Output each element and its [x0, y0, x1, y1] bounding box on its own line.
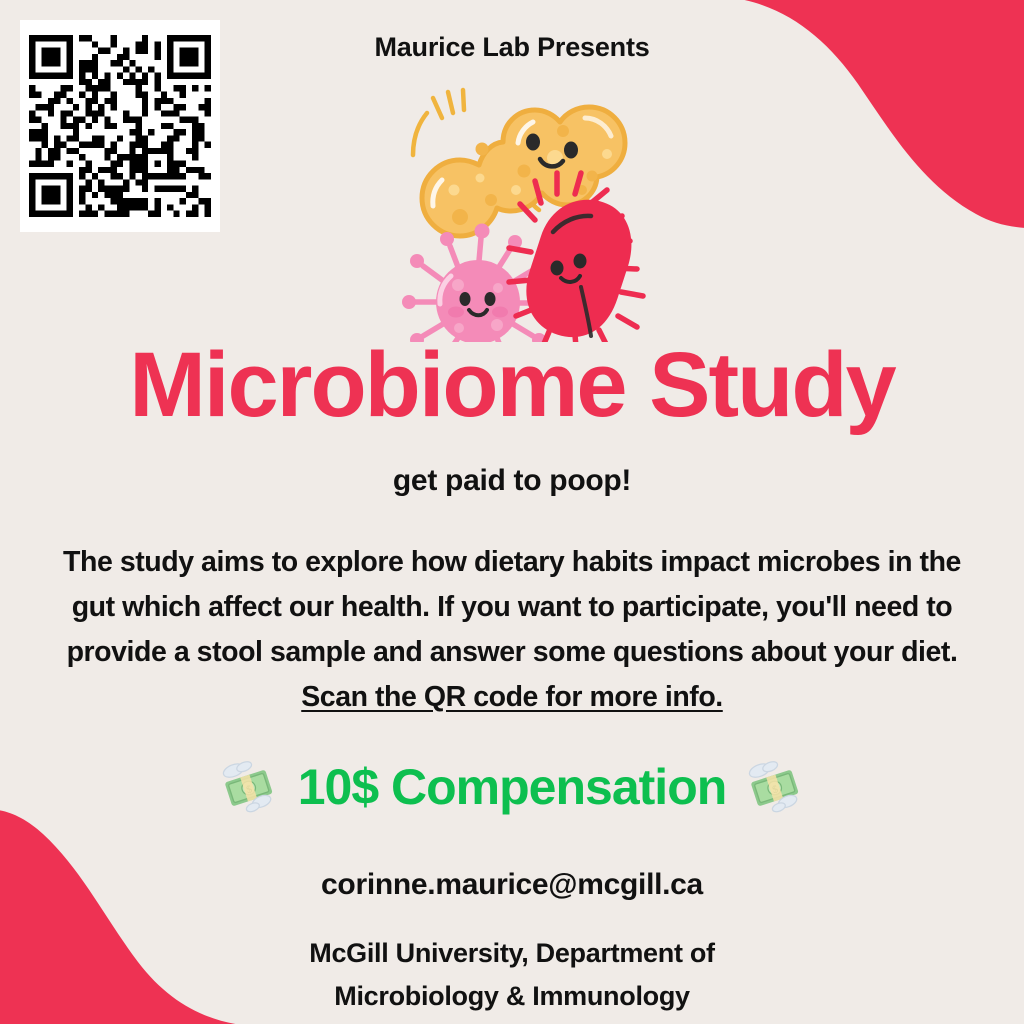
- page-subtitle: get paid to poop!: [0, 464, 1024, 498]
- page-title: Microbiome Study: [0, 337, 1024, 434]
- virus-body: [436, 260, 520, 342]
- description-line-3: provide a stool sample and answer some q…: [12, 630, 1012, 675]
- scan-qr-callout[interactable]: Scan the QR code for more info.: [12, 675, 1012, 720]
- virus-eye-right: [485, 292, 496, 306]
- poster-canvas: Maurice Lab Presents: [0, 0, 1024, 1024]
- description-line-2: gut which affect our health. If you want…: [12, 585, 1012, 630]
- bacteria-eye-right: [574, 254, 587, 269]
- money-with-wings-emoji-left: $: [218, 758, 280, 816]
- description-paragraph: The study aims to explore how dietary ha…: [12, 540, 1012, 720]
- affiliation-line-2: Microbiology & Immunology: [0, 975, 1024, 1018]
- contact-email[interactable]: corinne.maurice@mcgill.ca: [0, 868, 1024, 902]
- microbe-eye-right: [564, 142, 578, 159]
- affiliation-block: McGill University, Department of Microbi…: [0, 932, 1024, 1018]
- bacteria-eye-left: [551, 261, 564, 276]
- money-with-wings-emoji-right: $: [744, 758, 806, 816]
- compensation-row: $ 10$ Compensation $: [0, 758, 1024, 816]
- lab-presents-heading: Maurice Lab Presents: [0, 32, 1024, 63]
- virus-eye-left: [460, 292, 471, 306]
- compensation-amount: 10$ Compensation: [298, 758, 727, 816]
- affiliation-line-1: McGill University, Department of: [0, 932, 1024, 975]
- description-line-1: The study aims to explore how dietary ha…: [12, 540, 1012, 585]
- microbe-eye-left: [526, 134, 540, 151]
- sparkle-lines-icon: [413, 90, 464, 155]
- microbe-illustration: [385, 80, 665, 342]
